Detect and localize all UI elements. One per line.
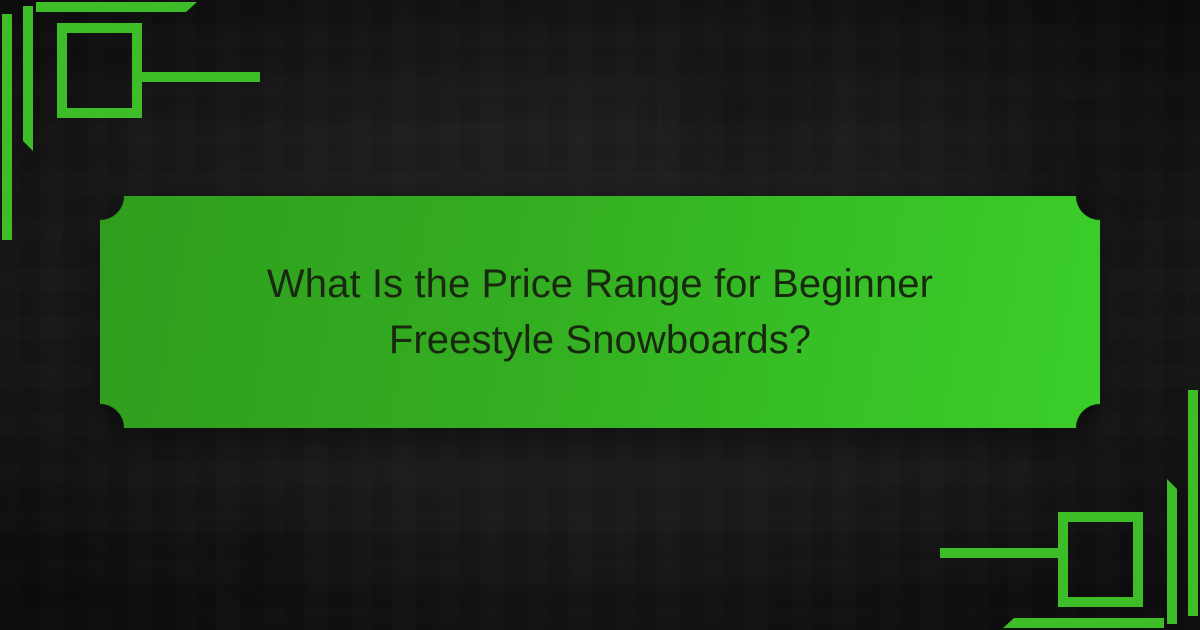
poster-canvas: What Is the Price Range for Beginner Fre… <box>0 0 1200 630</box>
title-banner: What Is the Price Range for Beginner Fre… <box>100 196 1100 428</box>
title-banner-content: What Is the Price Range for Beginner Fre… <box>100 196 1100 428</box>
page-title: What Is the Price Range for Beginner Fre… <box>220 256 980 368</box>
